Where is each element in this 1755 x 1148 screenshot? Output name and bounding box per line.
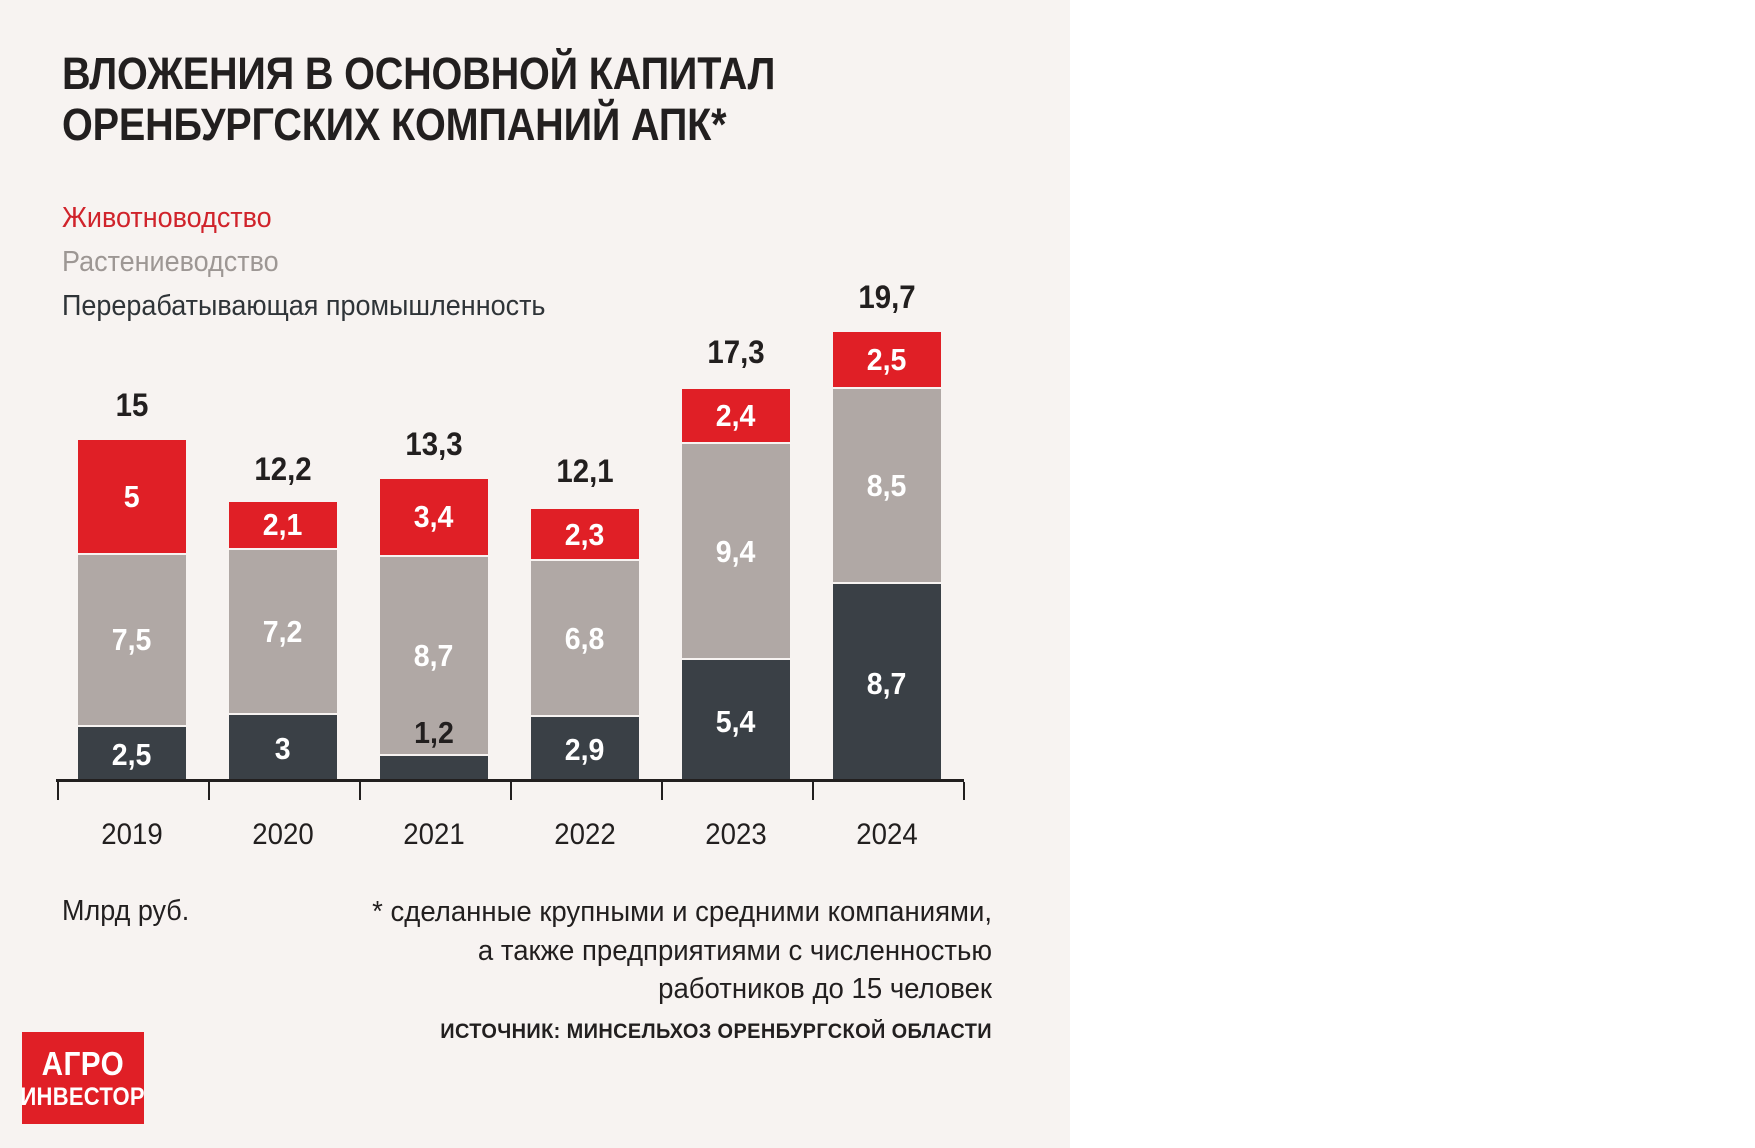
units-label: Млрд руб. xyxy=(62,895,189,928)
segment-processing-2024: 8,7 xyxy=(833,582,941,782)
segment-livestock-2019: 5 xyxy=(78,438,186,553)
segment-livestock-2021: 3,4 xyxy=(380,477,488,555)
segment-livestock-2020-value: 2,1 xyxy=(263,509,303,540)
x-axis-tick-end xyxy=(963,782,965,800)
bar-2020[interactable]: 2,17,23 xyxy=(229,500,337,782)
bar-2019[interactable]: 57,52,5 xyxy=(78,438,186,782)
agroinvestor-logo[interactable]: АГРО ИНВЕСТОР xyxy=(22,1032,144,1124)
segment-crop-2020-value: 7,2 xyxy=(263,616,303,647)
segment-processing-2022-value: 2,9 xyxy=(565,734,605,765)
segment-livestock-2023: 2,4 xyxy=(682,387,790,442)
page-title: ВЛОЖЕНИЯ В ОСНОВНОЙ КАПИТАЛ ОРЕНБУРГСКИХ… xyxy=(62,48,880,151)
segment-livestock-2020: 2,1 xyxy=(229,500,337,548)
segment-livestock-2024-value: 2,5 xyxy=(867,344,907,375)
x-axis-tick-4 xyxy=(661,782,663,800)
segment-crop-2024: 8,5 xyxy=(833,387,941,582)
chart-plot-area: 57,52,5152,17,2312,23,48,71,213,32,36,82… xyxy=(56,330,996,782)
segment-livestock-2023-value: 2,4 xyxy=(716,400,756,431)
bar-total-2024: 19,7 xyxy=(837,279,936,316)
segment-livestock-2022: 2,3 xyxy=(531,507,639,560)
bar-total-2020: 12,2 xyxy=(233,451,332,488)
segment-livestock-2024: 2,5 xyxy=(833,330,941,387)
segment-crop-2020: 7,2 xyxy=(229,548,337,713)
legend-item-crop-production: Растениеводство xyxy=(62,240,899,284)
bar-2023[interactable]: 2,49,45,4 xyxy=(682,387,790,782)
segment-crop-2019-value: 7,5 xyxy=(112,624,152,655)
bar-total-2022: 12,1 xyxy=(535,453,634,490)
segment-livestock-2019-value: 5 xyxy=(124,481,140,512)
segment-processing-2023-value: 5,4 xyxy=(716,706,756,737)
x-axis-tick-2 xyxy=(359,782,361,800)
legend-item-livestock: Животноводство xyxy=(62,196,899,240)
footnote: * сделанные крупными и средними компания… xyxy=(327,893,992,1009)
segment-processing-2020-value: 3 xyxy=(275,733,291,764)
segment-processing-2019-value: 2,5 xyxy=(112,739,152,770)
logo-line-1: АГРО xyxy=(42,1047,125,1080)
segment-processing-2022: 2,9 xyxy=(531,715,639,782)
segment-processing-2024-value: 8,7 xyxy=(867,668,907,699)
bar-total-2019: 15 xyxy=(82,387,181,424)
segment-crop-2021-value: 8,7 xyxy=(414,640,454,671)
x-axis-label-2021: 2021 xyxy=(384,818,483,852)
stacked-bar-chart: 57,52,5152,17,2312,23,48,71,213,32,36,82… xyxy=(56,330,996,860)
bar-total-2023: 17,3 xyxy=(686,334,785,371)
x-axis-label-2019: 2019 xyxy=(82,818,181,852)
segment-processing-2021: 1,2 xyxy=(380,754,488,782)
x-axis-tick-1 xyxy=(208,782,210,800)
source-label: ИСТОЧНИК: МИНСЕЛЬХОЗ ОРЕНБУРГСКОЙ ОБЛАСТ… xyxy=(270,1020,992,1044)
segment-processing-2021-value: 1,2 xyxy=(384,717,483,748)
logo-line-2: ИНВЕСТОР xyxy=(21,1085,145,1110)
bar-2022[interactable]: 2,36,82,9 xyxy=(531,507,639,782)
bar-2024[interactable]: 2,58,58,7 xyxy=(833,330,941,782)
segment-crop-2019: 7,5 xyxy=(78,553,186,725)
x-axis-label-2024: 2024 xyxy=(837,818,936,852)
x-axis-tick-5 xyxy=(812,782,814,800)
bar-2021[interactable]: 3,48,71,2 xyxy=(380,477,488,782)
x-axis-label-2022: 2022 xyxy=(535,818,634,852)
infographic-poster: ВЛОЖЕНИЯ В ОСНОВНОЙ КАПИТАЛ ОРЕНБУРГСКИХ… xyxy=(0,0,1070,1148)
segment-crop-2024-value: 8,5 xyxy=(867,470,907,501)
segment-crop-2023-value: 9,4 xyxy=(716,536,756,567)
segment-processing-2019: 2,5 xyxy=(78,725,186,782)
segment-crop-2022-value: 6,8 xyxy=(565,623,605,654)
segment-crop-2022: 6,8 xyxy=(531,559,639,715)
segment-processing-2023: 5,4 xyxy=(682,658,790,782)
screenshot-canvas: ВЛОЖЕНИЯ В ОСНОВНОЙ КАПИТАЛ ОРЕНБУРГСКИХ… xyxy=(0,0,1755,1148)
segment-livestock-2022-value: 2,3 xyxy=(565,519,605,550)
segment-livestock-2021-value: 3,4 xyxy=(414,501,454,532)
x-axis-label-2023: 2023 xyxy=(686,818,785,852)
x-axis-tick-0 xyxy=(57,782,59,800)
legend-item-processing-industry: Перерабатывающая промышленность xyxy=(62,284,899,328)
chart-legend: Животноводство Растениеводство Перерабат… xyxy=(62,196,962,328)
x-axis-tick-3 xyxy=(510,782,512,800)
x-axis-label-2020: 2020 xyxy=(233,818,332,852)
bar-total-2021: 13,3 xyxy=(384,426,483,463)
segment-processing-2020: 3 xyxy=(229,713,337,782)
segment-crop-2023: 9,4 xyxy=(682,442,790,658)
